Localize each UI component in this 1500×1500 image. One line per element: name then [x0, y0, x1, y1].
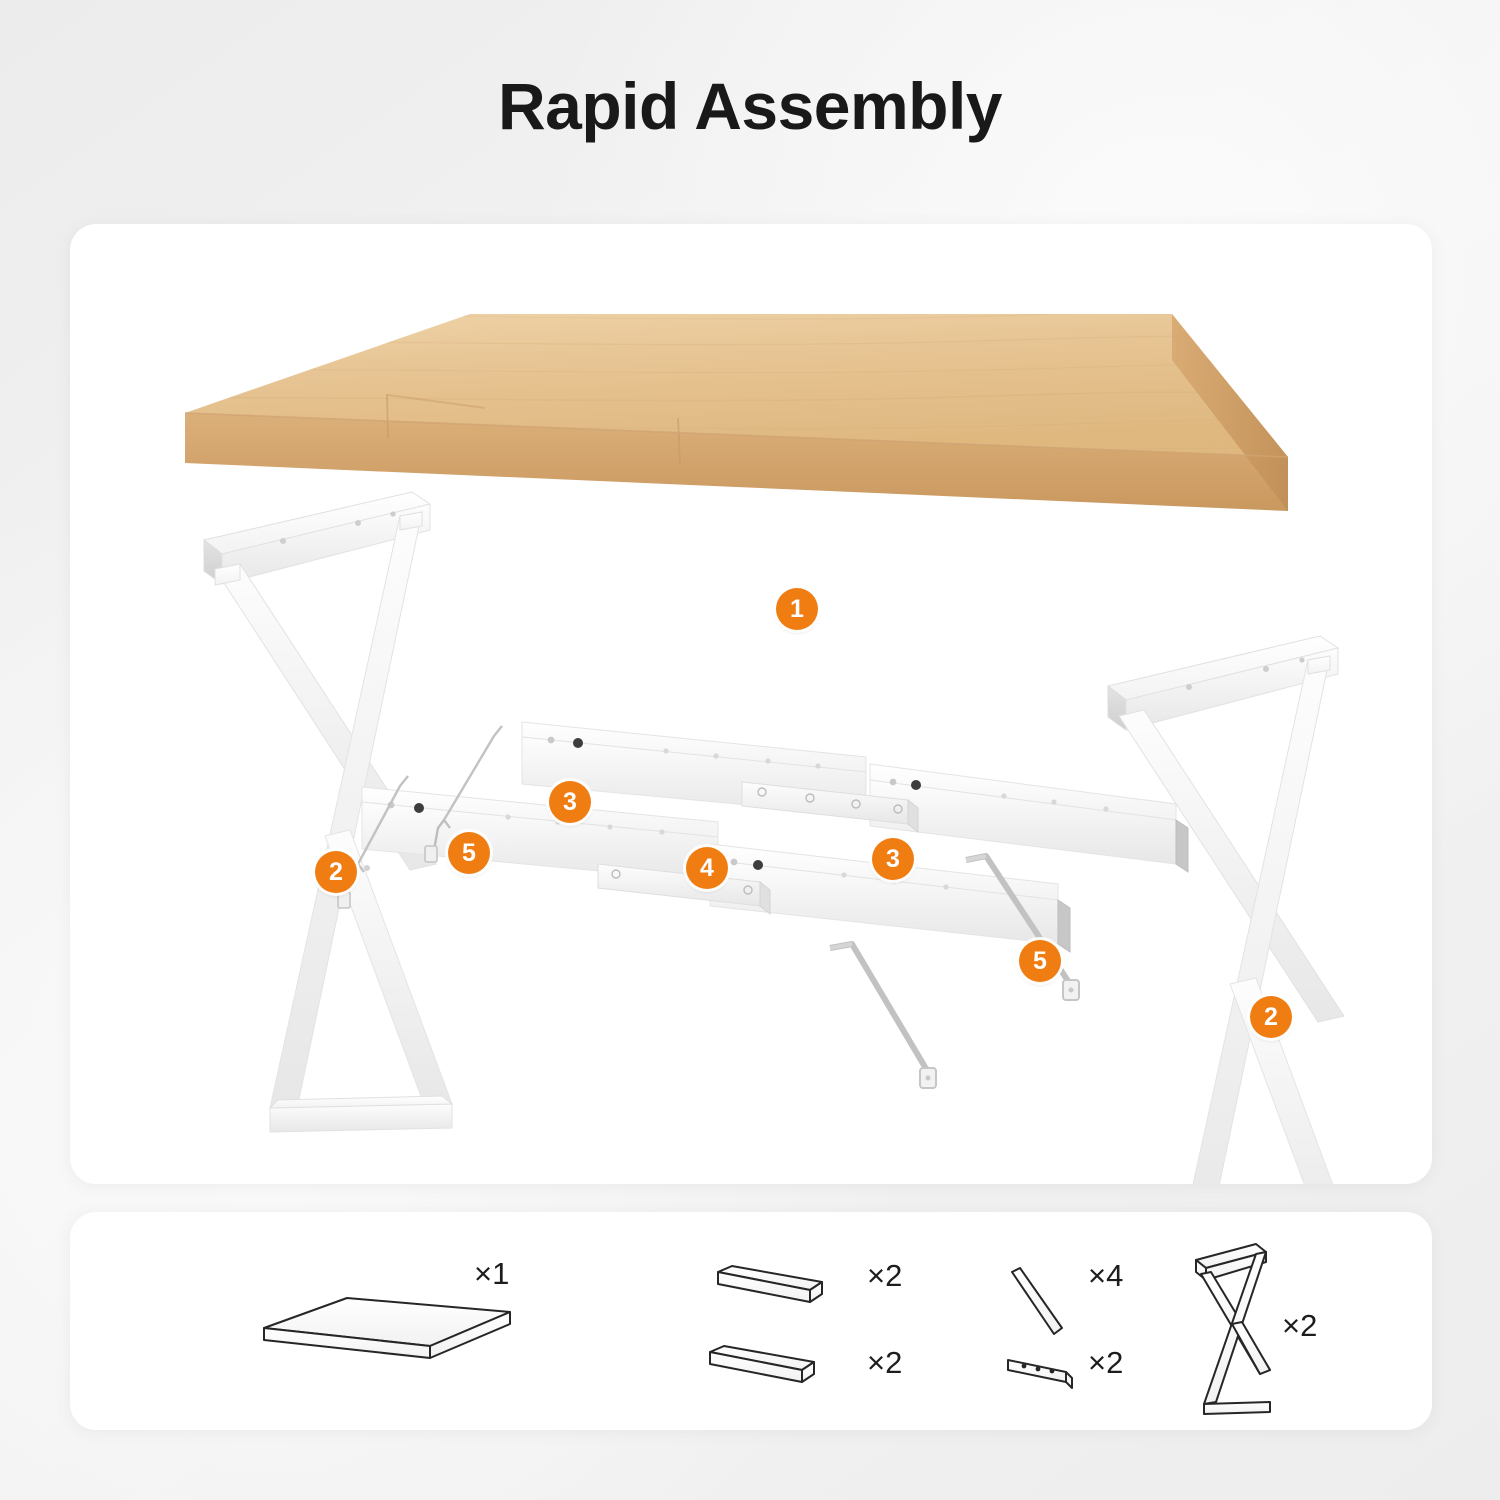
diagonal-brace-icon: [1012, 1268, 1062, 1334]
page-title: Rapid Assembly: [0, 68, 1500, 144]
assembly-instruction-page: Rapid Assembly: [0, 0, 1500, 1500]
diagonal-brace-right-b-part: [830, 944, 936, 1088]
parts-list-card: ×1 ×2 ×2 ×4 ×2 ×2: [70, 1212, 1432, 1430]
exploded-assembly-diagram: 1 2 2 3 3 4 5 5: [70, 224, 1432, 1184]
legend-qty-long-beam: ×2: [867, 1258, 902, 1294]
legend-qty-x-leg-frame: ×2: [1282, 1308, 1317, 1344]
part-badge-1[interactable]: 1: [776, 588, 818, 630]
legend-qty-connector-plate: ×2: [1088, 1345, 1123, 1381]
part-badge-5-right[interactable]: 5: [1019, 940, 1061, 982]
connector-plate-icon: [1008, 1360, 1072, 1388]
part-badge-2-left[interactable]: 2: [315, 851, 357, 893]
diagram-card: 1 2 2 3 3 4 5 5: [70, 224, 1432, 1184]
part-badge-5-left[interactable]: 5: [448, 832, 490, 874]
legend-qty-short-beam: ×2: [867, 1345, 902, 1381]
legend-qty-tabletop: ×1: [474, 1256, 509, 1292]
tabletop-part: [185, 314, 1288, 511]
x-leg-frame-icon: [1196, 1244, 1270, 1414]
long-beam-icon: [718, 1266, 822, 1302]
legend-qty-diagonal-brace: ×4: [1088, 1258, 1123, 1294]
short-beam-icon: [710, 1346, 814, 1382]
x-leg-frame-right-part: [1108, 636, 1360, 1184]
part-badge-3-left[interactable]: 3: [549, 781, 591, 823]
part-badge-3-right[interactable]: 3: [872, 838, 914, 880]
tabletop-panel-icon: [264, 1298, 510, 1358]
part-badge-2-right[interactable]: 2: [1250, 996, 1292, 1038]
part-badge-4[interactable]: 4: [686, 847, 728, 889]
